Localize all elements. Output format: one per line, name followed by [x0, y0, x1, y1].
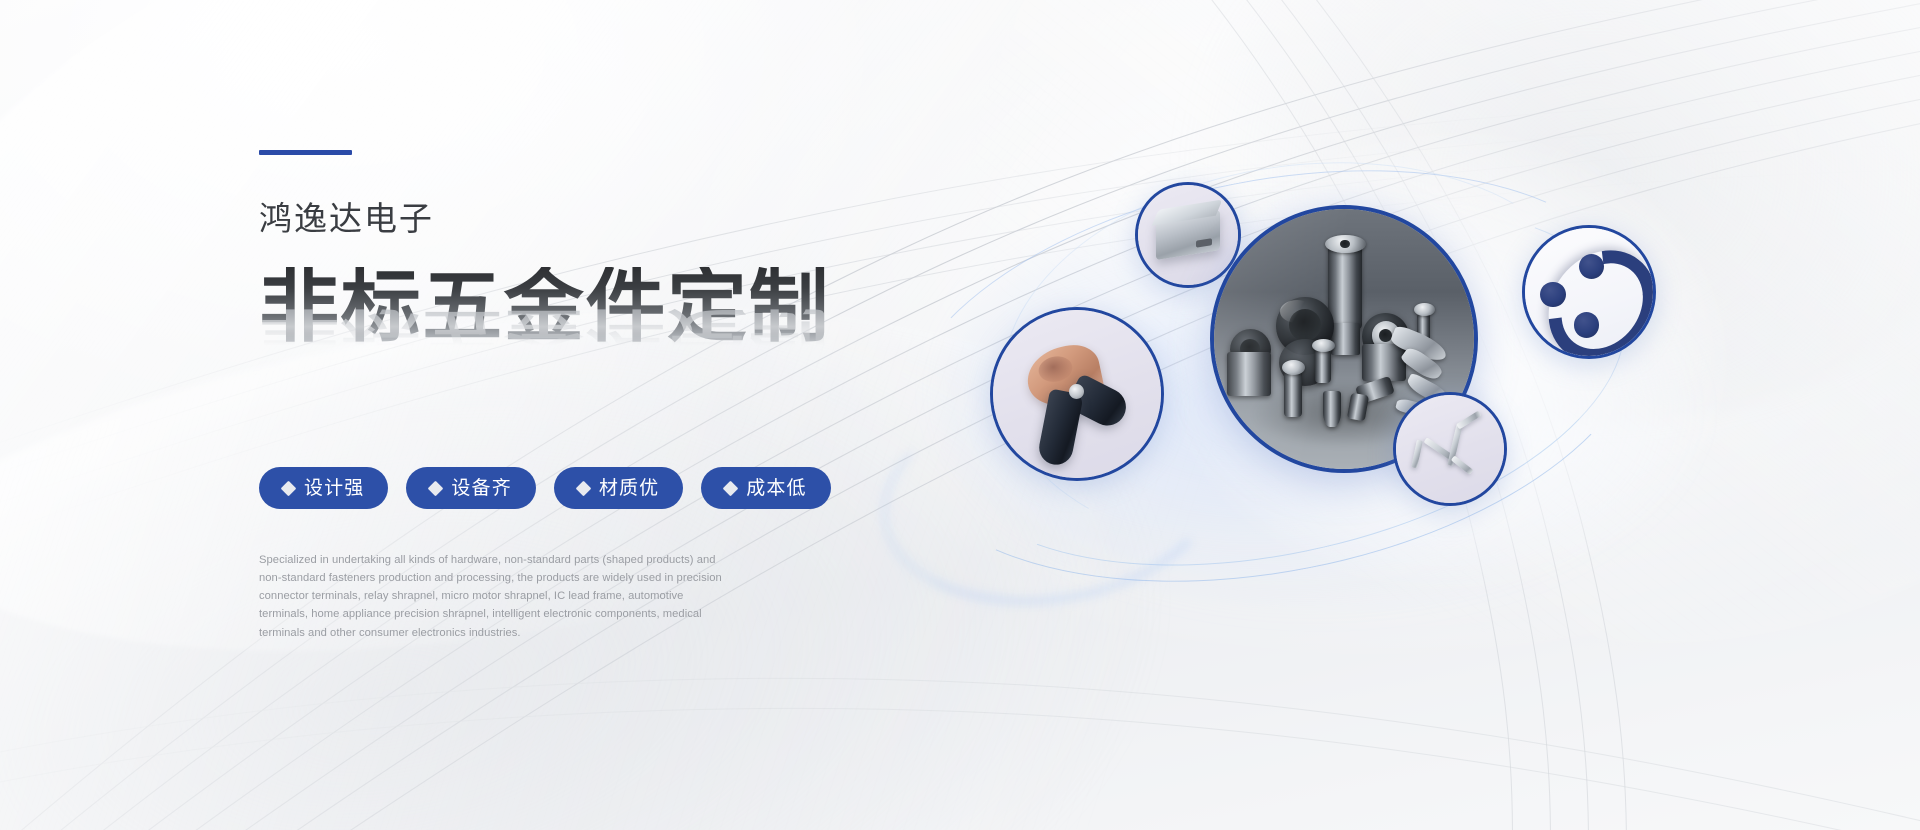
bent-wire-segment: [1451, 455, 1474, 475]
part-right-socket-body: [1362, 344, 1406, 380]
feature-badge-equipment[interactable]: 设备齐: [406, 467, 535, 509]
part-hole: [1240, 339, 1260, 359]
part-elbow-fitting: [1355, 375, 1395, 404]
feature-badge-label: 设计强: [304, 479, 364, 498]
page-title: 非标五金件定制: [259, 267, 899, 347]
diamond-icon: [723, 480, 739, 496]
bent-wire-segment: [1457, 410, 1482, 429]
part-sheen: [1280, 300, 1314, 323]
diamond-icon: [576, 480, 592, 496]
product-node-copper-clamp[interactable]: [990, 307, 1164, 481]
product-showcase: [1010, 120, 1840, 600]
part-hole: [1340, 240, 1350, 249]
bent-wire-segment: [1412, 440, 1424, 469]
feature-badge-label: 成本低: [746, 479, 806, 498]
diamond-icon: [281, 480, 297, 496]
hero-banner: 鸿逸达电子 非标五金件定制 非标五金件定制 设计强 设备齐 材质优 成本低: [0, 0, 1920, 830]
part-small-pin: [1417, 313, 1430, 347]
hero-content: 鸿逸达电子 非标五金件定制 非标五金件定制 设计强 设备齐 材质优 成本低: [259, 150, 899, 653]
part-lever-bracket: [1389, 324, 1450, 365]
product-node-blue-c-ring[interactable]: [1522, 225, 1656, 359]
brand-name: 鸿逸达电子: [259, 204, 899, 237]
part-elbow-fitting-leg: [1347, 392, 1369, 421]
part-tall-cylinder-cap: [1325, 235, 1367, 253]
feature-badge-label: 材质优: [599, 479, 659, 498]
enclosure-slot: [1196, 238, 1213, 247]
part-dark-ring-body: [1279, 339, 1331, 386]
feature-badge-label: 设备齐: [451, 479, 511, 498]
feature-badge-material[interactable]: 材质优: [554, 467, 683, 509]
part-bottom-tube: [1284, 370, 1302, 417]
part-hole: [1289, 309, 1321, 341]
accent-rule: [259, 150, 352, 155]
part-threaded-pin: [1315, 349, 1331, 383]
clamp-pivot-rivet: [1069, 384, 1084, 399]
company-description: Specialized in undertaking all kinds of …: [259, 551, 729, 642]
product-node-background: [1525, 228, 1653, 356]
product-node-background: [993, 310, 1161, 478]
part-dark-ring: [1276, 297, 1333, 354]
feature-badge-design[interactable]: 设计强: [259, 467, 388, 509]
headline-wrap: 非标五金件定制 非标五金件定制: [259, 267, 899, 385]
part-tall-cylinder-base: [1331, 323, 1360, 354]
part-right-socket: [1362, 313, 1409, 360]
product-node-background: [1396, 395, 1504, 503]
diamond-icon: [428, 480, 444, 496]
part-bottom-pin: [1323, 391, 1341, 427]
part-bottom-tube-cap: [1282, 360, 1305, 376]
feature-badge-list: 设计强 设备齐 材质优 成本低: [259, 467, 899, 509]
product-node-bent-wire-parts[interactable]: [1393, 392, 1507, 506]
part-tall-cylinder: [1328, 245, 1362, 328]
feature-badge-cost[interactable]: 成本低: [701, 467, 830, 509]
c-ring-lug: [1540, 282, 1566, 308]
part-threaded-pin-head: [1312, 339, 1335, 352]
part-socket-cap: [1372, 321, 1400, 349]
part-hole: [1379, 329, 1392, 342]
metal-enclosure-icon: [1156, 210, 1220, 260]
part-left-connector-body: [1227, 352, 1271, 396]
c-ring-lug: [1574, 312, 1600, 338]
part-left-connector: [1230, 329, 1272, 371]
part-small-pin-head: [1414, 303, 1435, 316]
part-lever-bracket-2: [1400, 344, 1444, 383]
